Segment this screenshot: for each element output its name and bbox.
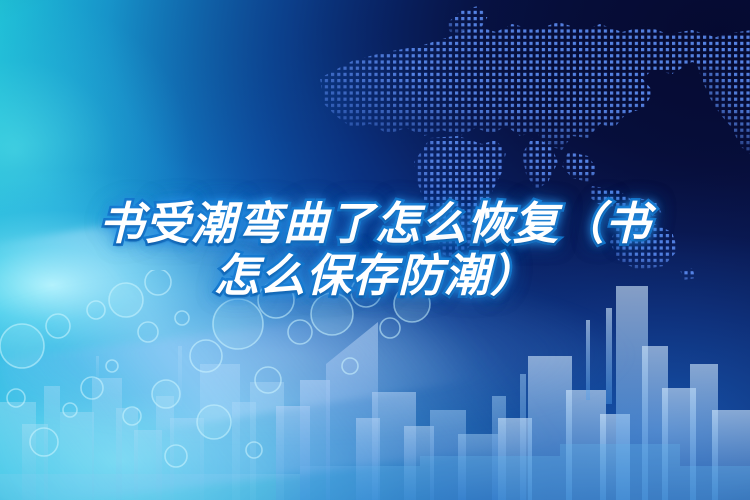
headline-text: 书受潮弯曲了怎么恢复（书 书受潮弯曲了怎么恢复（书 怎么保存防潮） 怎么保存防潮…: [0, 198, 750, 302]
bubble-decoration: [0, 270, 470, 500]
banner-image: 书受潮弯曲了怎么恢复（书 书受潮弯曲了怎么恢复（书 怎么保存防潮） 怎么保存防潮…: [0, 0, 750, 500]
headline-line-1: 书受潮弯曲了怎么恢复（书 书受潮弯曲了怎么恢复（书: [0, 198, 750, 250]
headline-line-2-fill: 怎么保存防潮）: [0, 250, 750, 302]
headline-line-1-fill: 书受潮弯曲了怎么恢复（书: [0, 198, 750, 250]
headline-line-2: 怎么保存防潮） 怎么保存防潮）: [0, 250, 750, 302]
